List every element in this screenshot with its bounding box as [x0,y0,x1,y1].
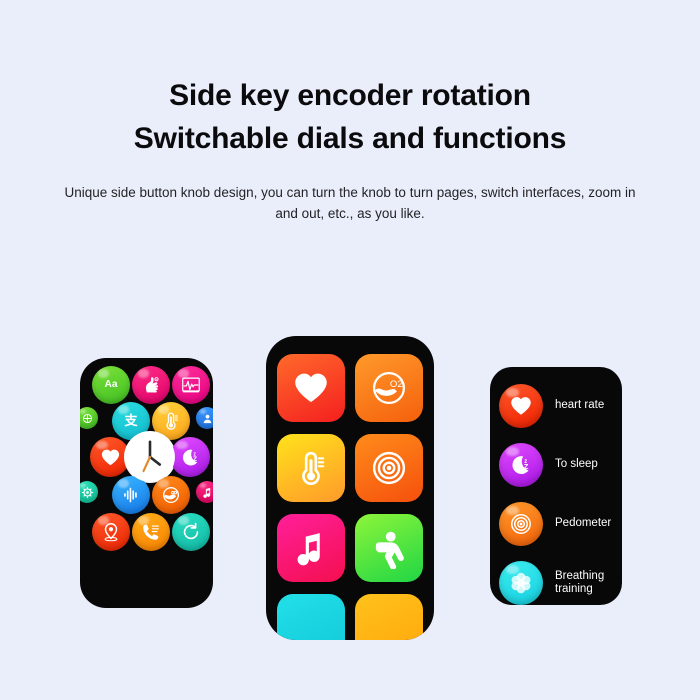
moon-zzz-icon: zZ [508,452,534,478]
alipay-icon: 支 [124,414,137,427]
app-icon-reset[interactable] [172,513,210,551]
refresh-icon [180,521,202,543]
tile-app-grid[interactable]: O2 [277,354,423,640]
music-note-icon [201,486,214,499]
app-icon-font-size[interactable]: Aa [92,366,130,404]
app-tile-partial-cyan[interactable] [277,594,345,640]
ecg-waveform-icon [180,374,202,396]
app-icon-ecg[interactable] [172,366,210,404]
app-tile-temperature[interactable] [277,434,345,502]
phone-log-icon [140,521,162,543]
list-item-icon-sleep: zZ [499,443,543,487]
flower-breath-icon [508,570,534,596]
list-item-label: Breathing training [555,570,622,597]
list-item[interactable]: Breathing training [490,558,622,605]
app-icon-settings[interactable] [80,481,98,503]
text-size-icon: Aa [105,380,118,390]
analog-clock-icon [124,431,176,483]
hand-gesture-icon [140,374,162,396]
app-icon-music[interactable] [196,481,213,503]
svg-text:Z: Z [524,462,529,471]
list-item-icon-breathing-training [499,561,543,605]
watch-left-screen: Aa支zZ [80,358,213,608]
audio-waveform-icon [120,484,142,506]
app-icon-contacts[interactable] [196,407,213,429]
app-icon-compass[interactable] [80,407,98,429]
list-item-icon-pedometer [499,502,543,546]
blood-oxygen-o2-icon: O2 [368,367,410,409]
moon-zzz-icon: zZ [179,446,202,469]
list-item-icon-heart-rate [499,384,543,428]
app-tile-blood-oxygen[interactable]: O2 [355,354,423,422]
heart-icon [508,393,534,419]
list-item[interactable]: heart rate [490,381,622,431]
target-rings-icon [508,511,534,537]
watch-right-screen: heart ratezZTo sleepPedometerBreathing t… [490,367,622,605]
app-icon-location[interactable] [92,513,130,551]
list-item-label: heart rate [555,399,604,413]
watch-middle-screen: O2 [266,336,434,640]
svg-text:Z: Z [192,455,196,462]
app-icon-gesture[interactable] [132,366,170,404]
heart-icon [290,367,332,409]
music-note-icon [290,527,332,569]
page-subtitle: Unique side button knob design, you can … [61,182,639,224]
thermometer-icon [160,410,182,432]
svg-text:O2: O2 [390,379,403,390]
page-title: Side key encoder rotation Switchable dia… [0,74,700,160]
app-tile-pedometer[interactable] [355,434,423,502]
target-rings-icon [368,447,410,489]
app-tile-partial-amber[interactable] [355,594,423,640]
app-list-view[interactable]: heart ratezZTo sleepPedometerBreathing t… [490,381,622,605]
list-item-label: To sleep [555,458,598,472]
heart-icon [99,446,122,469]
promo-page: Side key encoder rotation Switchable dia… [0,0,700,700]
app-tile-music[interactable] [277,514,345,582]
headline-line-2: Switchable dials and functions [0,117,700,160]
app-icon-call-log[interactable] [132,513,170,551]
list-item-label: Pedometer [555,517,611,531]
person-icon [201,412,214,425]
thermometer-icon [290,447,332,489]
honeycomb-app-grid[interactable]: Aa支zZ [80,358,213,608]
app-icon-sleep[interactable]: zZ [170,437,210,477]
exercise-figure-icon [368,527,410,569]
headline-line-1: Side key encoder rotation [0,74,700,117]
list-item[interactable]: zZTo sleep [490,440,622,490]
app-icon-watch-face[interactable] [124,431,176,483]
blood-oxygen-icon [160,484,182,506]
gear-icon [81,486,94,499]
compass-icon [81,412,94,425]
app-tile-heart-rate[interactable] [277,354,345,422]
location-pin-icon [100,521,122,543]
list-item[interactable]: Pedometer [490,499,622,549]
app-tile-exercise[interactable] [355,514,423,582]
